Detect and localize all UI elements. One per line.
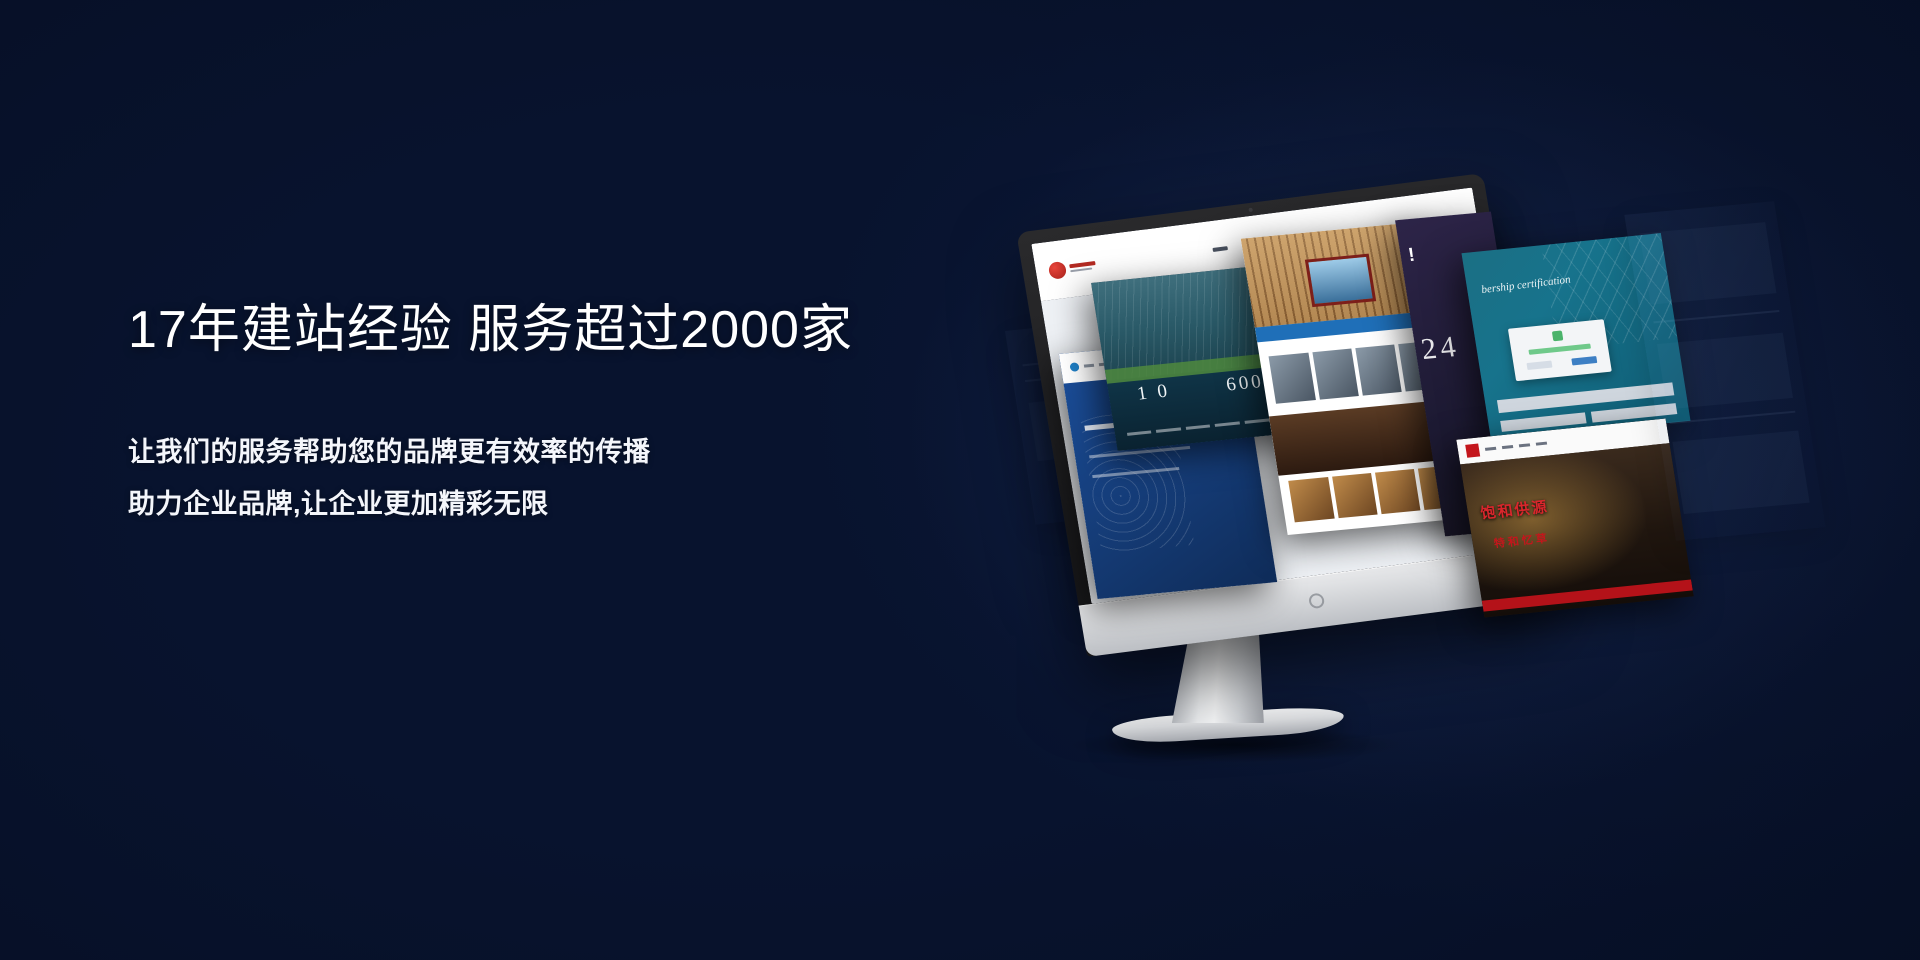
dialog-cancel-button[interactable] xyxy=(1527,360,1553,369)
page-title: 17年建站经验 服务超过2000家 xyxy=(128,300,1108,361)
stat-value-1: 1 0 xyxy=(1136,381,1172,406)
hero-subtitle-line-1: 让我们的服务帮助您的品牌更有效率的传播 xyxy=(128,427,1108,479)
promo-strip xyxy=(1482,579,1693,611)
screen-fan: 1 0 6000 ! 24 bership certification xyxy=(1310,206,1910,676)
dialog-confirm-button[interactable] xyxy=(1571,356,1597,365)
nav-item[interactable] xyxy=(1536,442,1547,446)
success-icon xyxy=(1552,331,1564,342)
restaurant-subheadline: 特和忆草 xyxy=(1493,530,1551,551)
nav-item[interactable] xyxy=(1519,443,1530,447)
restaurant-headline: 饱和供源 xyxy=(1479,496,1550,524)
hero-subtitle-line-2: 助力企业品牌,让企业更加精彩无限 xyxy=(128,479,1108,531)
nav-item[interactable] xyxy=(1502,445,1513,449)
restaurant-logo-icon xyxy=(1466,444,1481,458)
hero-subtitle: 让我们的服务帮助您的品牌更有效率的传播 助力企业品牌,让企业更加精彩无限 xyxy=(128,427,1108,531)
violet-number: 24 xyxy=(1419,330,1462,367)
site-logo-wordmark xyxy=(1070,261,1097,272)
restaurant-photo: 饱和供源 特和忆草 xyxy=(1460,443,1693,617)
nav-item[interactable] xyxy=(1212,246,1228,252)
screen-restaurant: 饱和供源 特和忆草 xyxy=(1456,418,1693,617)
violet-exclaim: ! xyxy=(1407,244,1417,266)
hero-copy-block: 17年建站经验 服务超过2000家 让我们的服务帮助您的品牌更有效率的传播 助力… xyxy=(128,300,1108,531)
certification-dialog xyxy=(1508,319,1612,381)
site-logo-icon xyxy=(1048,261,1068,280)
showcase-scene: 400-9627-667 1 0 6000 xyxy=(980,150,1920,850)
nav-item[interactable] xyxy=(1485,447,1496,451)
